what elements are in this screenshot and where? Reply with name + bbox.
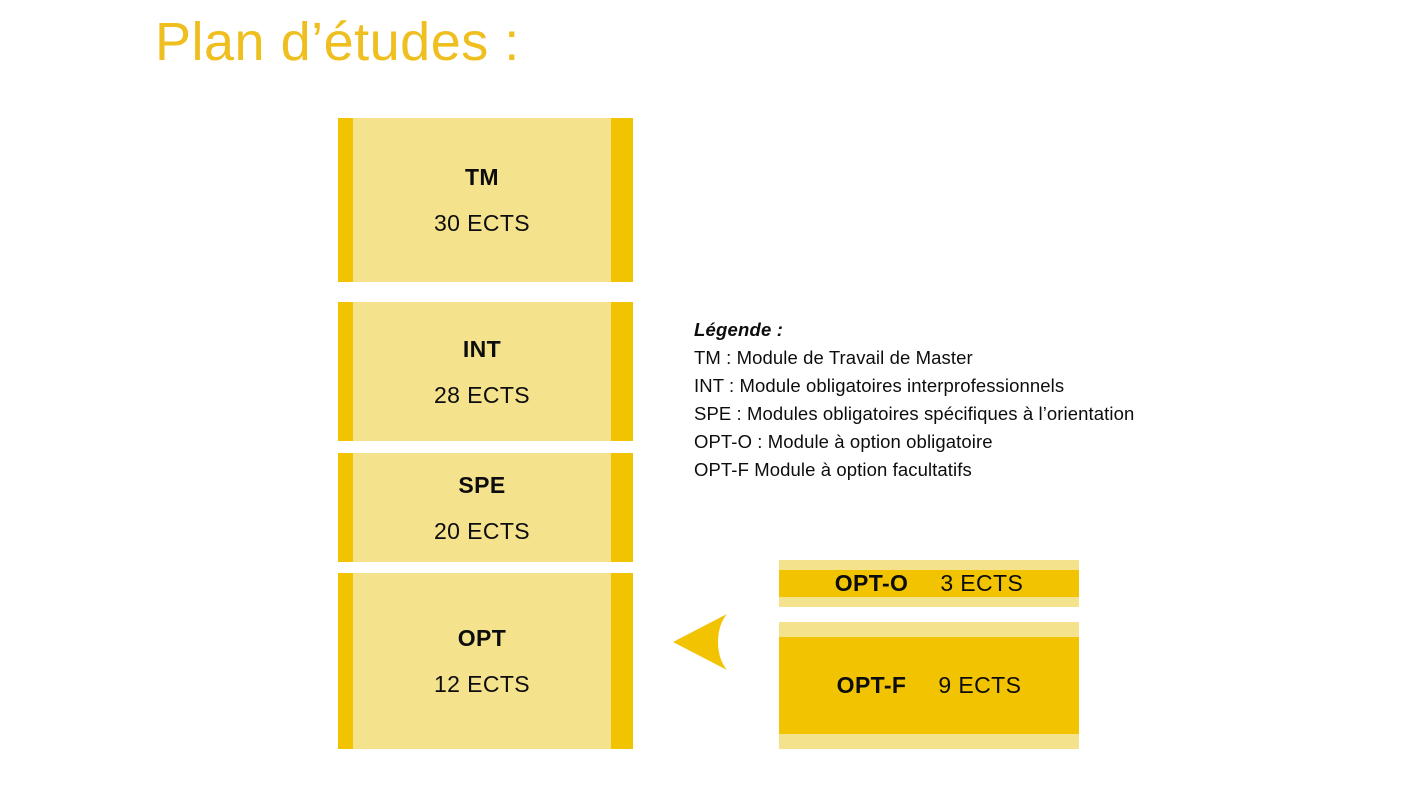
sub-module-box-opt-f[interactable]: OPT-F 9 ECTS xyxy=(779,622,1079,749)
module-credits: 12 ECTS xyxy=(434,669,530,699)
module-box-right-bar xyxy=(611,302,633,441)
module-box-left-bar xyxy=(338,573,353,749)
module-box-body: INT 28 ECTS xyxy=(353,302,611,441)
module-box-spe[interactable]: SPE 20 ECTS xyxy=(338,453,633,562)
legend: Légende : TM : Module de Travail de Mast… xyxy=(694,316,1214,484)
sub-module-top-bar xyxy=(779,560,1079,570)
sub-module-body: OPT-F 9 ECTS xyxy=(779,637,1079,734)
module-box-right-bar xyxy=(611,453,633,562)
module-box-left-bar xyxy=(338,453,353,562)
legend-item-int: INT : Module obligatoires interprofessio… xyxy=(694,372,1214,400)
legend-item-opt-f: OPT-F Module à option facultatifs xyxy=(694,456,1214,484)
sub-module-credits: 9 ECTS xyxy=(938,672,1021,699)
legend-title: Légende : xyxy=(694,316,1214,344)
legend-item-spe: SPE : Modules obligatoires spécifiques à… xyxy=(694,400,1214,428)
legend-item-tm: TM : Module de Travail de Master xyxy=(694,344,1214,372)
left-arrow-icon xyxy=(670,610,736,674)
module-box-tm[interactable]: TM 30 ECTS xyxy=(338,118,633,282)
module-box-opt[interactable]: OPT 12 ECTS xyxy=(338,573,633,749)
sub-module-credits: 3 ECTS xyxy=(940,570,1023,597)
module-code: TM xyxy=(465,162,499,192)
module-credits: 28 ECTS xyxy=(434,380,530,410)
sub-module-bottom-bar xyxy=(779,734,1079,749)
module-code: OPT xyxy=(458,623,506,653)
page-title: Plan d’études : xyxy=(155,9,520,75)
module-box-right-bar xyxy=(611,118,633,282)
module-credits: 30 ECTS xyxy=(434,208,530,238)
module-code: SPE xyxy=(458,470,505,500)
module-box-int[interactable]: INT 28 ECTS xyxy=(338,302,633,441)
sub-module-bottom-bar xyxy=(779,597,1079,607)
legend-item-opt-o: OPT-O : Module à option obligatoire xyxy=(694,428,1214,456)
module-box-left-bar xyxy=(338,302,353,441)
module-box-body: OPT 12 ECTS xyxy=(353,573,611,749)
module-credits: 20 ECTS xyxy=(434,516,530,546)
sub-module-top-bar xyxy=(779,622,1079,637)
sub-module-body: OPT-O 3 ECTS xyxy=(779,570,1079,597)
sub-module-box-opt-o[interactable]: OPT-O 3 ECTS xyxy=(779,560,1079,606)
sub-module-code: OPT-F xyxy=(837,672,907,699)
module-code: INT xyxy=(463,334,501,364)
slide-canvas: Plan d’études : TM 30 ECTS INT 28 ECTS S… xyxy=(0,0,1422,800)
sub-module-code: OPT-O xyxy=(835,570,909,597)
module-box-left-bar xyxy=(338,118,353,282)
module-box-body: TM 30 ECTS xyxy=(353,118,611,282)
module-box-right-bar xyxy=(611,573,633,749)
module-box-body: SPE 20 ECTS xyxy=(353,453,611,562)
